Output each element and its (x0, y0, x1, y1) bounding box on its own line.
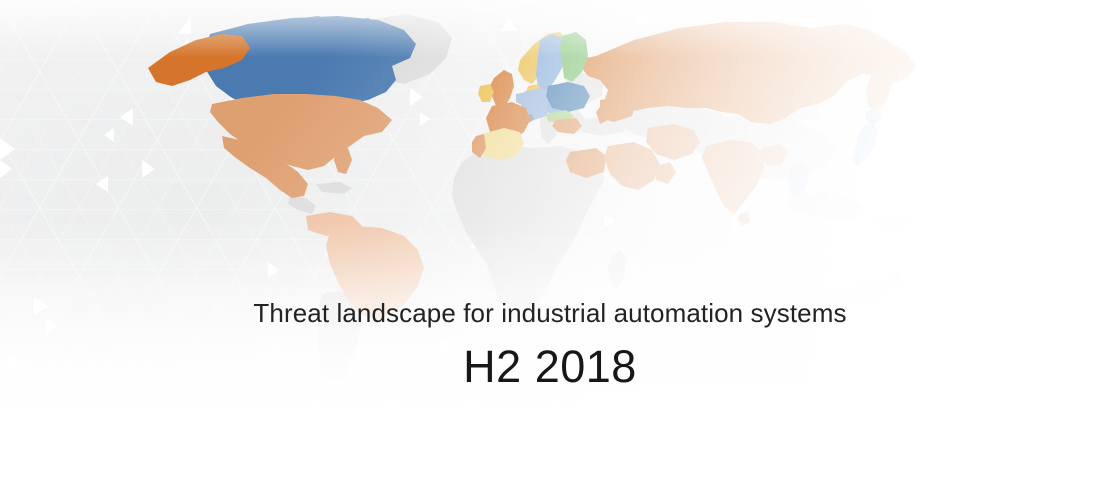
title-block: Threat landscape for industrial automati… (0, 296, 1100, 394)
page-subtitle: H2 2018 (0, 340, 1100, 394)
page-title: Threat landscape for industrial automati… (0, 296, 1100, 330)
background-fade-overlay (0, 0, 1100, 480)
slide-root: Threat landscape for industrial automati… (0, 0, 1100, 480)
